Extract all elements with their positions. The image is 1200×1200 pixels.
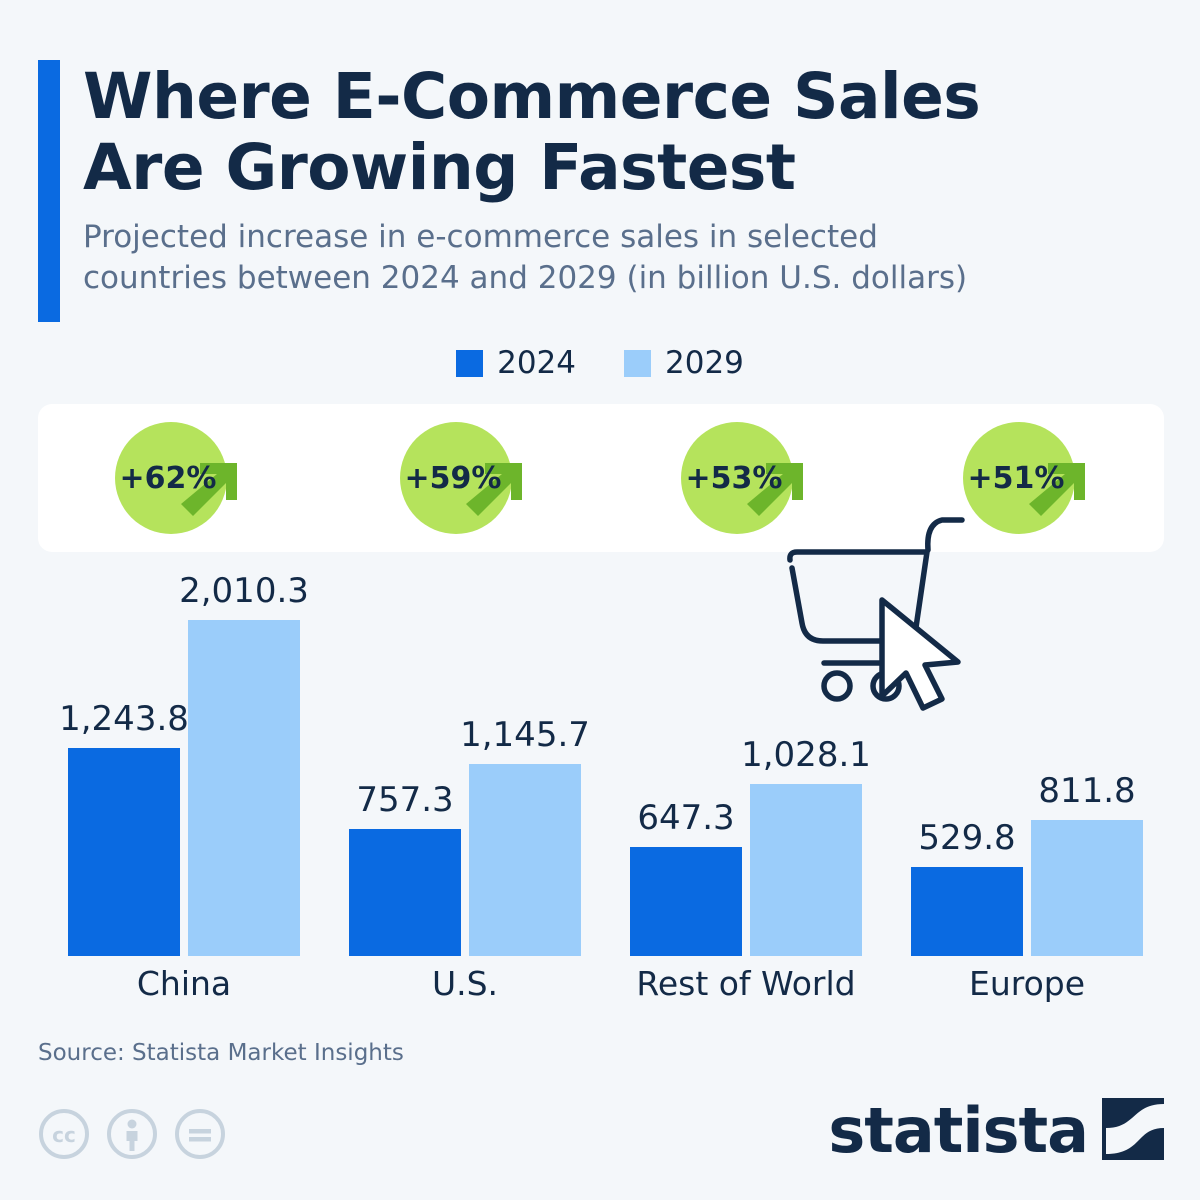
bar-us-2029[interactable]: 1,145.7	[469, 764, 581, 956]
bar-rest-of-world-2029[interactable]: 1,028.1	[750, 784, 862, 956]
legend-swatch-2029	[624, 350, 651, 377]
bar-rest-of-world-2024[interactable]: 647.3	[630, 847, 742, 956]
license-icons: cc	[38, 1108, 226, 1160]
bar-group-label-europe: Europe	[969, 964, 1085, 1003]
statista-logo: statista	[828, 1098, 1164, 1164]
source-text: Source: Statista Market Insights	[38, 1040, 404, 1066]
page-title-line-2: Are Growing Fastest	[83, 131, 796, 204]
bar-chart: 1,243.8 2,010.3 China 757.3 1,145.7 U.S.…	[38, 556, 1164, 956]
attribution-icon[interactable]	[106, 1108, 158, 1160]
legend-item-2024[interactable]: 2024	[456, 348, 576, 379]
growth-badge-value: +62%	[120, 461, 217, 496]
bar-europe-2029[interactable]: 811.8	[1031, 820, 1143, 956]
bar-value-us-2029: 1,145.7	[460, 718, 590, 752]
bar-china-2029[interactable]: 2,010.3	[188, 620, 300, 956]
page-subtitle-line-1: Projected increase in e-commerce sales i…	[83, 219, 878, 255]
title-accent-bar	[38, 60, 60, 322]
svg-text:cc: cc	[52, 1123, 76, 1147]
bar-group-us: 757.3 1,145.7 U.S.	[341, 556, 591, 956]
page-subtitle: Projected increase in e-commerce sales i…	[83, 217, 1158, 299]
chart-legend: 2024 2029	[0, 348, 1200, 379]
legend-label-2029: 2029	[665, 348, 744, 379]
bar-group-label-rest-of-world: Rest of World	[636, 964, 855, 1003]
legend-label-2024: 2024	[497, 348, 576, 379]
bar-value-us-2024: 757.3	[356, 783, 453, 817]
growth-badge-card: +62% +59% +53% +51%	[38, 404, 1164, 552]
shopping-cart-icon	[776, 500, 986, 715]
bar-group-bars: 1,243.8 2,010.3	[60, 556, 310, 956]
bar-value-rest-of-world-2029: 1,028.1	[741, 738, 871, 772]
legend-item-2029[interactable]: 2029	[624, 348, 744, 379]
header: Where E-Commerce Sales Are Growing Faste…	[38, 58, 1158, 299]
header-text: Where E-Commerce Sales Are Growing Faste…	[83, 58, 1158, 299]
growth-badge-value: +51%	[968, 461, 1065, 496]
creative-commons-icon[interactable]: cc	[38, 1108, 90, 1160]
bar-group-bars: 757.3 1,145.7	[341, 556, 591, 956]
bar-europe-2024[interactable]: 529.8	[911, 867, 1023, 956]
bar-china-2024[interactable]: 1,243.8	[68, 748, 180, 956]
page-title: Where E-Commerce Sales Are Growing Faste…	[83, 58, 1158, 203]
no-derivatives-icon[interactable]	[174, 1108, 226, 1160]
growth-badge-us: +59%	[400, 422, 550, 534]
bar-value-rest-of-world-2024: 647.3	[637, 801, 734, 835]
bar-value-china-2024: 1,243.8	[59, 702, 189, 736]
bar-value-europe-2029: 811.8	[1038, 774, 1135, 808]
bar-group-china: 1,243.8 2,010.3 China	[60, 556, 310, 956]
bar-value-china-2029: 2,010.3	[179, 574, 309, 608]
growth-badge-value: +59%	[405, 461, 502, 496]
growth-badge-value: +53%	[686, 461, 783, 496]
statista-wordmark: statista	[828, 1100, 1088, 1162]
page-subtitle-line-2: countries between 2024 and 2029 (in bill…	[83, 260, 967, 296]
bar-group-label-us: U.S.	[432, 964, 498, 1003]
legend-swatch-2024	[456, 350, 483, 377]
bar-us-2024[interactable]: 757.3	[349, 829, 461, 956]
bar-value-europe-2024: 529.8	[918, 821, 1015, 855]
bar-group-label-china: China	[137, 964, 231, 1003]
page-title-line-1: Where E-Commerce Sales	[83, 60, 980, 133]
growth-badge-china: +62%	[115, 422, 265, 534]
statista-mark-icon	[1102, 1098, 1164, 1164]
